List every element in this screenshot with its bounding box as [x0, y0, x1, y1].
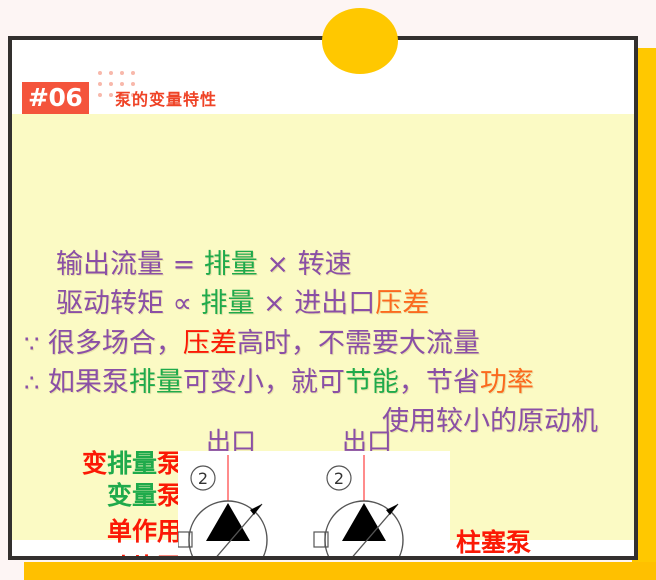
gold-circle-decoration	[322, 8, 398, 74]
decoration-dot	[98, 82, 102, 86]
svg-text:2: 2	[334, 469, 344, 488]
pump-symbols-svg: 2 1 2 1	[178, 451, 450, 560]
reasoning-line-because: ∵ 很多场合，压差高时，不需要大流量	[24, 321, 480, 360]
text-run: =	[164, 249, 204, 280]
text-run: 排量	[200, 288, 254, 319]
page-title: 泵的变量特性	[115, 86, 217, 110]
text-run: 转速	[298, 249, 352, 280]
logic-symbol: ∵	[24, 330, 39, 358]
pump-symbol-right: 2 1 3	[314, 455, 431, 560]
decoration-dot	[109, 93, 113, 97]
reasoning-line-therefore: ∴ 如果泵排量可变小，就可节能，节省功率	[24, 360, 534, 399]
text-run: 输出流量	[56, 249, 164, 280]
decoration-dot	[98, 71, 102, 75]
svg-text:2: 2	[198, 469, 208, 488]
slide-card: #06 泵的变量特性 输出流量 = 排量 × 转速 驱动转矩 ∝ 排量 × 进出…	[8, 36, 638, 560]
text-run: 叶片泵	[107, 553, 182, 560]
slide-number-badge: #06	[22, 82, 89, 114]
pump-symbol-diagram: 2 1 2 1	[178, 451, 450, 560]
decoration-dot	[120, 71, 124, 75]
text-run: 很多场合，	[39, 328, 183, 359]
text-run: 可变小，就可	[183, 367, 345, 398]
text-run: 单作用	[107, 517, 182, 546]
text-run: 排量	[204, 249, 258, 280]
text-run: 变量	[107, 481, 157, 510]
decoration-dot	[109, 82, 113, 86]
label-vane-pump: 叶片泵	[48, 554, 182, 560]
text-run: 功率	[480, 367, 534, 398]
equation-line-flow: 输出流量 = 排量 × 转速	[56, 242, 352, 281]
slide-body: 输出流量 = 排量 × 转速 驱动转矩 ∝ 排量 × 进出口压差 ∵ 很多场合，…	[12, 114, 634, 540]
text-run: ×	[254, 288, 294, 319]
text-run: 变	[82, 449, 107, 478]
decoration-dot	[109, 71, 113, 75]
text-run: 压差	[375, 288, 429, 319]
text-run: 节能	[345, 367, 399, 398]
equation-line-torque: 驱动转矩 ∝ 排量 × 进出口压差	[56, 281, 429, 320]
label-single-acting: 单作用	[48, 518, 182, 546]
label-piston-pump: 柱塞泵	[456, 523, 531, 559]
decoration-dot	[98, 93, 102, 97]
text-run: ∝	[164, 288, 200, 319]
gold-accent-bar-bottom	[24, 562, 656, 580]
conclusion-line: 使用较小的原动机	[382, 399, 598, 438]
text-run: 高时，不需要大流量	[237, 328, 480, 359]
decoration-dot	[131, 71, 135, 75]
text-run: ×	[258, 249, 298, 280]
pump-symbol-left: 2 1	[178, 455, 267, 560]
label-variable-displacement-pump: 变排量泵	[48, 450, 182, 478]
text-run: ，节省	[399, 367, 480, 398]
label-variable-pump: 变量泵	[48, 482, 182, 510]
text-run: 进出口	[294, 288, 375, 319]
text-run: 驱动转矩	[56, 288, 164, 319]
logic-symbol: ∴	[24, 369, 39, 397]
text-run: 排量	[107, 449, 157, 478]
text-run: 压差	[183, 328, 237, 359]
text-run: 如果泵	[39, 367, 129, 398]
text-run: 排量	[129, 367, 183, 398]
